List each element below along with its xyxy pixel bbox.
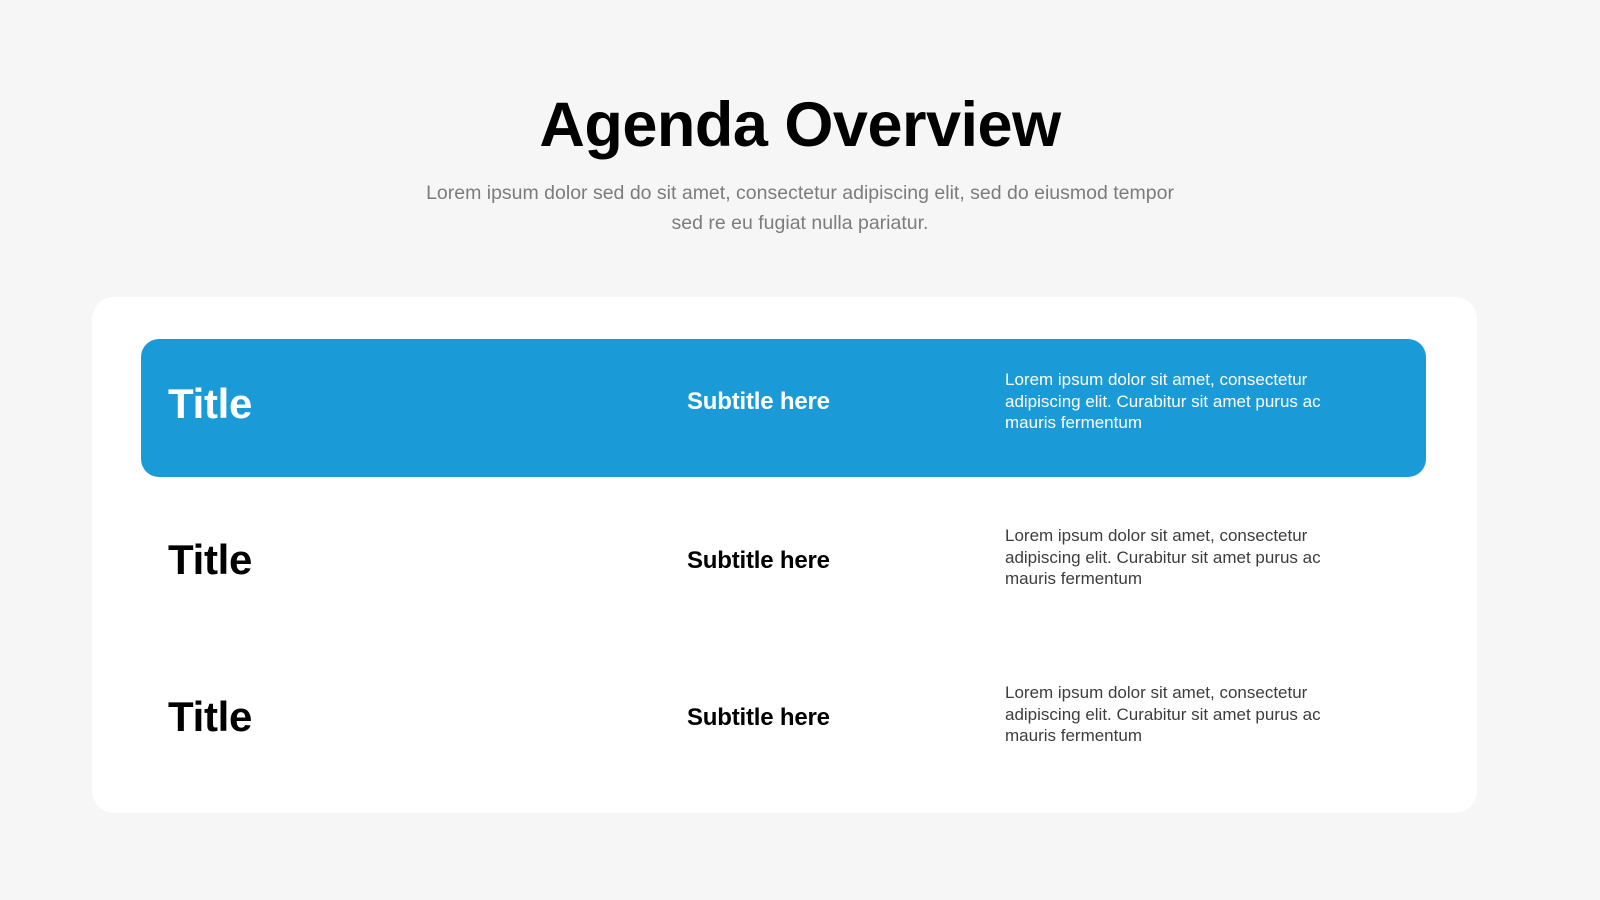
agenda-row-description: Lorem ipsum dolor sit amet, consectetur … — [1005, 682, 1321, 747]
agenda-row-title: Title — [168, 535, 252, 585]
agenda-row-subtitle: Subtitle here — [687, 546, 830, 576]
agenda-card: Title Subtitle here Lorem ipsum dolor si… — [92, 297, 1477, 813]
agenda-row-list: Title Subtitle here Lorem ipsum dolor si… — [92, 297, 1477, 813]
agenda-row-title: Title — [168, 692, 252, 742]
agenda-row-3[interactable]: Title Subtitle here Lorem ipsum dolor si… — [141, 652, 1426, 790]
page-subtitle: Lorem ipsum dolor sed do sit amet, conse… — [345, 178, 1255, 238]
agenda-row-title: Title — [168, 379, 252, 429]
agenda-row-subtitle: Subtitle here — [687, 703, 830, 733]
slide-header: Agenda Overview Lorem ipsum dolor sed do… — [0, 86, 1600, 238]
agenda-row-subtitle: Subtitle here — [687, 387, 830, 417]
page-subtitle-line-1: Lorem ipsum dolor sed do sit amet, conse… — [345, 178, 1255, 208]
page-subtitle-line-2: sed re eu fugiat nulla pariatur. — [345, 208, 1255, 238]
agenda-slide: Agenda Overview Lorem ipsum dolor sed do… — [0, 0, 1600, 900]
agenda-row-1[interactable]: Title Subtitle here Lorem ipsum dolor si… — [141, 339, 1426, 477]
agenda-row-2[interactable]: Title Subtitle here Lorem ipsum dolor si… — [141, 495, 1426, 633]
agenda-row-description: Lorem ipsum dolor sit amet, consectetur … — [1005, 369, 1321, 434]
agenda-row-description: Lorem ipsum dolor sit amet, consectetur … — [1005, 525, 1321, 590]
page-title: Agenda Overview — [0, 86, 1600, 164]
